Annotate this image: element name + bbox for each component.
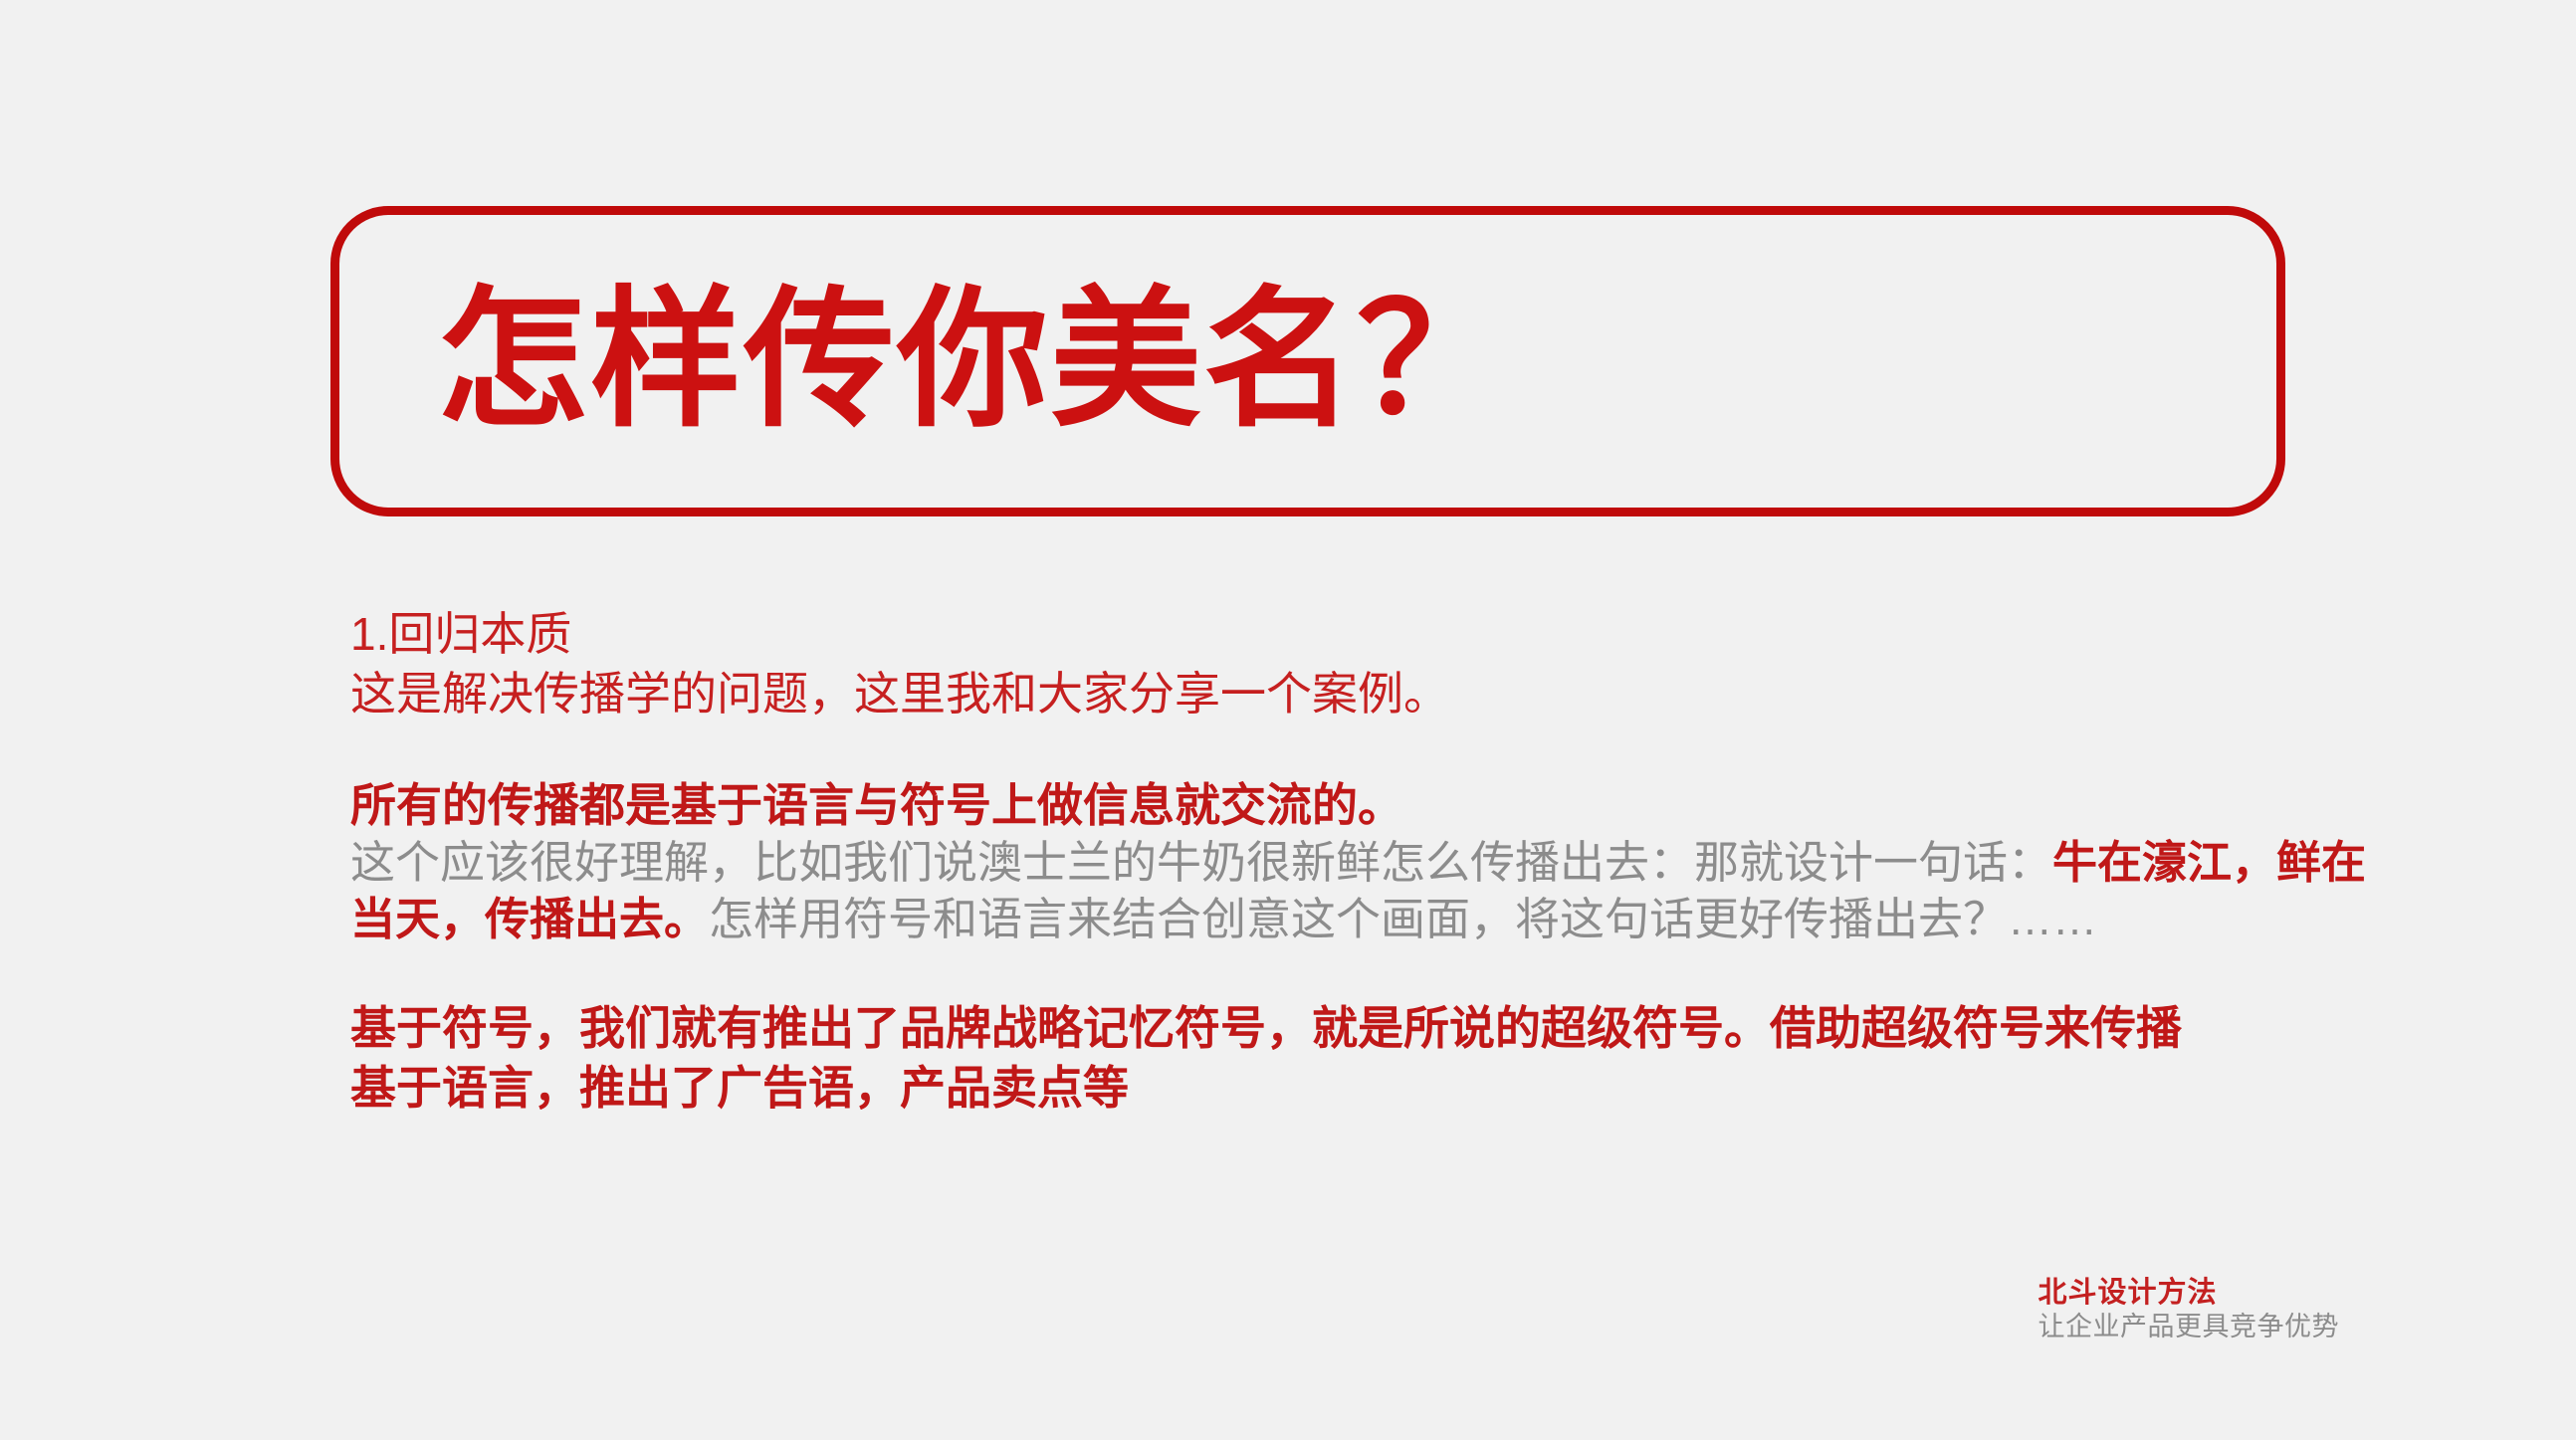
footer: 北斗设计方法 让企业产品更具竞争优势 bbox=[2039, 1277, 2340, 1342]
conclusion-line-2: 基于语言，推出了广告语，产品卖点等 bbox=[350, 1059, 2401, 1119]
title-frame: 怎样传你美名？ bbox=[330, 206, 2285, 516]
paragraph-spacer-2 bbox=[350, 947, 2401, 999]
explanation-ellipsis: …… bbox=[2008, 894, 2097, 944]
page-title: 怎样传你美名？ bbox=[339, 282, 1510, 441]
footer-tagline: 让企业产品更具竞争优势 bbox=[2039, 1312, 2340, 1342]
intro-line: 这是解决传播学的问题，这里我和大家分享一个案例。 bbox=[350, 665, 2401, 724]
emphasis-heading: 所有的传播都是基于语言与符号上做信息就交流的。 bbox=[350, 776, 2401, 836]
body-copy: 1.回归本质 这是解决传播学的问题，这里我和大家分享一个案例。 所有的传播都是基… bbox=[350, 605, 2401, 1118]
paragraph-spacer-1 bbox=[350, 724, 2401, 776]
slide-canvas: 怎样传你美名？ 1.回归本质 这是解决传播学的问题，这里我和大家分享一个案例。 … bbox=[0, 0, 2576, 1440]
conclusion-line-1: 基于符号，我们就有推出了品牌战略记忆符号，就是所说的超级符号。借助超级符号来传播 bbox=[350, 999, 2401, 1059]
explanation-part-2: 怎样用符号和语言来结合创意这个画面，将这句话更好传播出去？ bbox=[709, 894, 2008, 944]
section-heading: 1.回归本质 bbox=[350, 605, 2401, 665]
explanation-paragraph: 这个应该很好理解，比如我们说澳士兰的牛奶很新鲜怎么传播出去：那就设计一句话：牛在… bbox=[350, 835, 2401, 947]
footer-brand: 北斗设计方法 bbox=[2039, 1277, 2340, 1310]
explanation-part-1: 这个应该很好理解，比如我们说澳士兰的牛奶很新鲜怎么传播出去：那就设计一句话： bbox=[350, 837, 2052, 888]
